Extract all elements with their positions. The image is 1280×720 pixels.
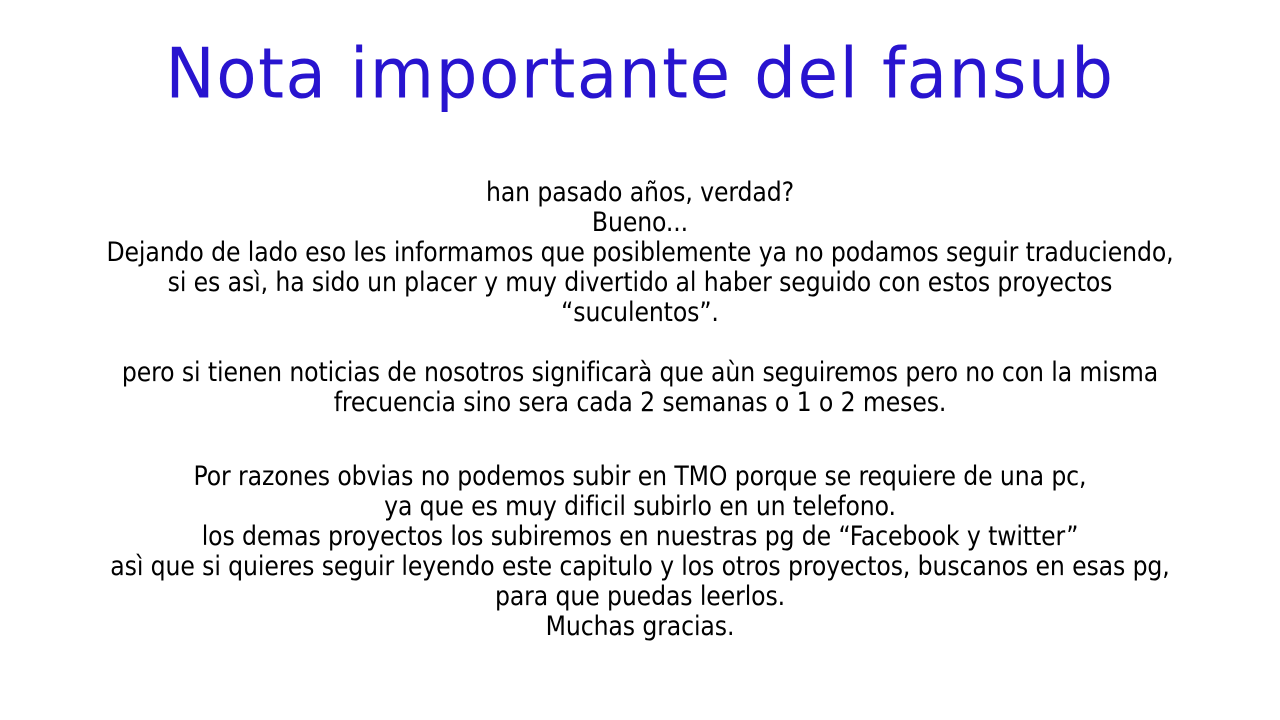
paragraph-frequency: pero si tienen noticias de nosotros sign… bbox=[0, 358, 1280, 418]
text-line: para que puedas leerlos. bbox=[19, 582, 1261, 612]
text-line: Dejando de lado eso les informamos que p… bbox=[19, 238, 1261, 268]
text-line: ya que es muy dificil subirlo en un tele… bbox=[19, 492, 1261, 522]
text-line: han pasado años, verdad? bbox=[19, 178, 1261, 208]
text-line: Muchas gracias. bbox=[19, 612, 1261, 642]
text-line: Por razones obvias no podemos subir en T… bbox=[19, 462, 1261, 492]
text-line: pero si tienen noticias de nosotros sign… bbox=[19, 358, 1261, 388]
paragraph-spacer bbox=[0, 328, 1280, 358]
text-line: si es asì, ha sido un placer y muy diver… bbox=[19, 268, 1261, 298]
text-line: frecuencia sino sera cada 2 semanas o 1 … bbox=[19, 388, 1261, 418]
body-text-block: han pasado años, verdad? Bueno... Dejand… bbox=[0, 178, 1280, 642]
text-line: asì que si quieres seguir leyendo este c… bbox=[19, 552, 1261, 582]
paragraph-intro: han pasado años, verdad? Bueno... Dejand… bbox=[0, 178, 1280, 328]
text-line: “suculentos”. bbox=[19, 298, 1261, 328]
text-line: los demas proyectos los subiremos en nue… bbox=[19, 522, 1261, 552]
slide-canvas: Nota importante del fansub han pasado añ… bbox=[0, 0, 1280, 720]
text-line: Bueno... bbox=[19, 208, 1261, 238]
paragraph-spacer bbox=[0, 418, 1280, 462]
page-title: Nota importante del fansub bbox=[0, 36, 1280, 112]
paragraph-where-to-read: Por razones obvias no podemos subir en T… bbox=[0, 462, 1280, 642]
